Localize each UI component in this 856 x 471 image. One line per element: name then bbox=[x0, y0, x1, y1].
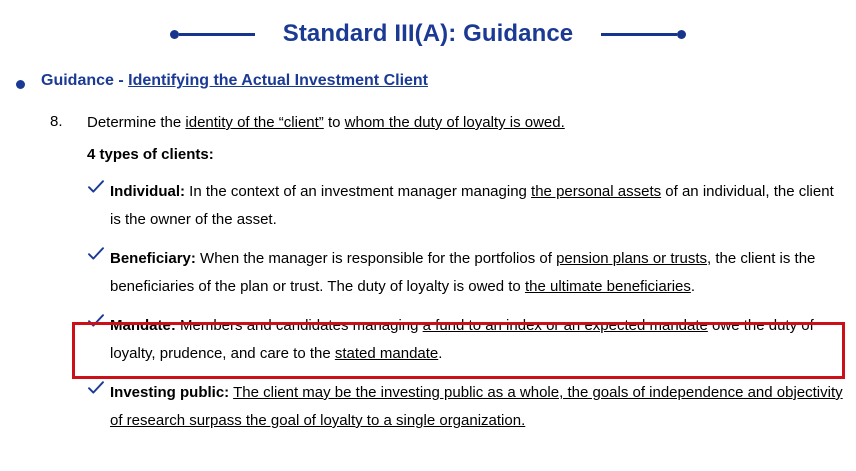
numbered-item-part2: to bbox=[324, 114, 345, 131]
guidance-heading-text: Guidance - Identifying the Actual Invest… bbox=[41, 72, 428, 90]
numbered-item-part1: Determine the bbox=[87, 114, 185, 131]
client-type-item: Investing public: The client may be the … bbox=[88, 379, 844, 435]
client-type-label: Individual: bbox=[110, 183, 185, 200]
left-decorator-dot-icon bbox=[170, 30, 179, 39]
check-icon bbox=[88, 180, 110, 194]
client-type-segment: a fund to an index or an expected mandat… bbox=[423, 317, 708, 334]
client-type-segment: . bbox=[691, 278, 695, 295]
right-decorator-dot-icon bbox=[677, 30, 686, 39]
guidance-heading-plain: Guidance - bbox=[41, 72, 128, 89]
check-icon bbox=[88, 247, 110, 261]
client-type-item: Mandate: Members and candidates managing… bbox=[88, 312, 844, 368]
client-type-segment: stated mandate bbox=[335, 345, 438, 362]
left-decorator-rule bbox=[170, 28, 255, 40]
page-title: Standard III(A): Guidance bbox=[283, 20, 574, 48]
numbered-item-text: Determine the identity of the “client” t… bbox=[87, 113, 565, 133]
left-decorator-line-icon bbox=[179, 33, 255, 36]
right-decorator-rule bbox=[601, 28, 686, 40]
client-type-label: Mandate: bbox=[110, 317, 176, 334]
numbered-item-underline2: whom the duty of loyalty is owed. bbox=[345, 114, 565, 131]
client-type-segment: . bbox=[438, 345, 442, 362]
types-heading: 4 types of clients: bbox=[87, 146, 214, 163]
client-type-segment: the personal assets bbox=[531, 183, 661, 200]
client-type-segment: pension plans or trusts bbox=[556, 250, 707, 267]
guidance-heading-underlined: Identifying the Actual Investment Client bbox=[128, 72, 428, 89]
client-type-label: Beneficiary: bbox=[110, 250, 196, 267]
title-row: Standard III(A): Guidance bbox=[0, 14, 856, 54]
client-type-segment: the ultimate beneficiaries bbox=[525, 278, 691, 295]
check-icon bbox=[88, 381, 110, 395]
client-type-segment: Members and candidates managing bbox=[176, 317, 423, 334]
guidance-section-heading: Guidance - Identifying the Actual Invest… bbox=[16, 72, 428, 90]
client-type-segment: In the context of an investment manager … bbox=[185, 183, 531, 200]
client-type-body: Mandate: Members and candidates managing… bbox=[110, 312, 844, 368]
client-type-label: Investing public: bbox=[110, 384, 229, 401]
round-bullet-icon bbox=[16, 80, 25, 89]
numbered-item-underline1: identity of the “client” bbox=[185, 114, 323, 131]
client-type-body: Beneficiary: When the manager is respons… bbox=[110, 245, 844, 301]
client-type-body: Investing public: The client may be the … bbox=[110, 379, 844, 435]
check-icon bbox=[88, 314, 110, 328]
client-type-item: Beneficiary: When the manager is respons… bbox=[88, 245, 844, 301]
client-type-body: Individual: In the context of an investm… bbox=[110, 178, 844, 234]
client-type-segment: When the manager is responsible for the … bbox=[196, 250, 556, 267]
numbered-item-8: 8. Determine the identity of the “client… bbox=[50, 113, 850, 133]
right-decorator-line-icon bbox=[601, 33, 677, 36]
client-types-list: Individual: In the context of an investm… bbox=[88, 178, 844, 446]
client-type-item: Individual: In the context of an investm… bbox=[88, 178, 844, 234]
numbered-item-number: 8. bbox=[50, 113, 87, 130]
